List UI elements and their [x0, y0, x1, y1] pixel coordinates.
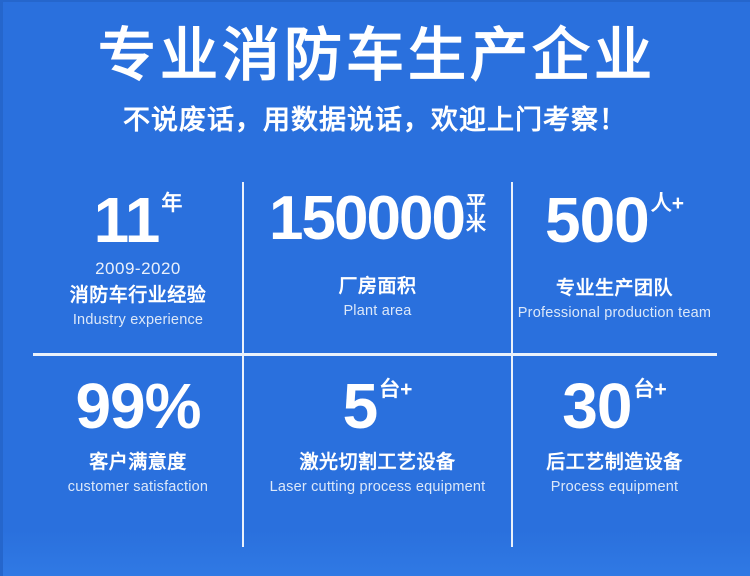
vertical-divider-2 [511, 182, 513, 547]
page-title: 专业消防车生产企业 [0, 22, 750, 90]
stat-unit: 平 米 [466, 190, 486, 234]
stat-number: 99% [75, 376, 200, 437]
stat-unit: 人+ [651, 190, 684, 215]
promo-banner: 专业消防车生产企业 不说废话，用数据说话，欢迎上门考察！ 11 年 2009-2… [0, 0, 750, 576]
page-subtitle: 不说废话，用数据说话，欢迎上门考察！ [0, 104, 750, 136]
stat-unit: 年 [161, 190, 182, 215]
stat-label-cn: 激光切割工艺设备 [299, 451, 455, 475]
stat-figure: 11 年 [94, 190, 183, 251]
stat-figure: 30 台+ [562, 376, 666, 437]
stat-number: 150000 [269, 190, 464, 249]
stat-label-cn: 后工艺制造设备 [546, 451, 683, 475]
stat-figure: 5 台+ [343, 376, 413, 437]
stat-unit: 台+ [379, 376, 412, 401]
stat-unit: 台+ [633, 376, 666, 401]
vertical-divider-1 [242, 182, 244, 547]
stat-label-en: Professional production team [518, 304, 711, 322]
stats-grid: 11 年 2009-2020 消防车行业经验 Industry experien… [33, 182, 717, 548]
stat-label-cn: 消防车行业经验 [70, 284, 207, 308]
horizontal-divider [33, 353, 717, 356]
stat-unit-bottom: 米 [466, 214, 486, 234]
stat-cell-laser-cutting-equipment: 5 台+ 激光切割工艺设备 Laser cutting process equi… [243, 354, 512, 548]
stat-cell-industry-experience: 11 年 2009-2020 消防车行业经验 Industry experien… [33, 182, 243, 354]
stat-label-en: Plant area [343, 302, 411, 320]
stat-number: 5 [343, 376, 378, 437]
stat-label-cn: 厂房面积 [338, 275, 416, 299]
stat-label-cn: 专业生产团队 [556, 277, 673, 301]
stat-figure: 99% [75, 376, 200, 437]
stat-figure: 150000 平 米 [269, 190, 486, 249]
stat-label-en: customer satisfaction [68, 478, 208, 496]
stat-number: 30 [562, 376, 631, 437]
stat-cell-process-equipment: 30 台+ 后工艺制造设备 Process equipment [512, 354, 717, 548]
stat-number: 500 [545, 190, 649, 251]
stat-label-cn: 客户满意度 [89, 451, 187, 475]
stat-cell-production-team: 500 人+ 专业生产团队 Professional production te… [512, 182, 717, 354]
stat-label-en: Process equipment [551, 478, 679, 496]
stat-figure: 500 人+ [545, 190, 684, 251]
stat-number: 11 [94, 190, 160, 251]
stat-cell-customer-satisfaction: 99% 客户满意度 customer satisfaction [33, 354, 243, 548]
banner-header: 专业消防车生产企业 不说废话，用数据说话，欢迎上门考察！ [0, 0, 750, 137]
stat-unit-top: 平 [466, 194, 486, 214]
stat-cell-plant-area: 150000 平 米 厂房面积 Plant area [243, 182, 512, 354]
stat-label-en: Laser cutting process equipment [270, 478, 486, 496]
stat-year-range: 2009-2020 [95, 259, 181, 279]
stat-label-en: Industry experience [73, 311, 203, 329]
